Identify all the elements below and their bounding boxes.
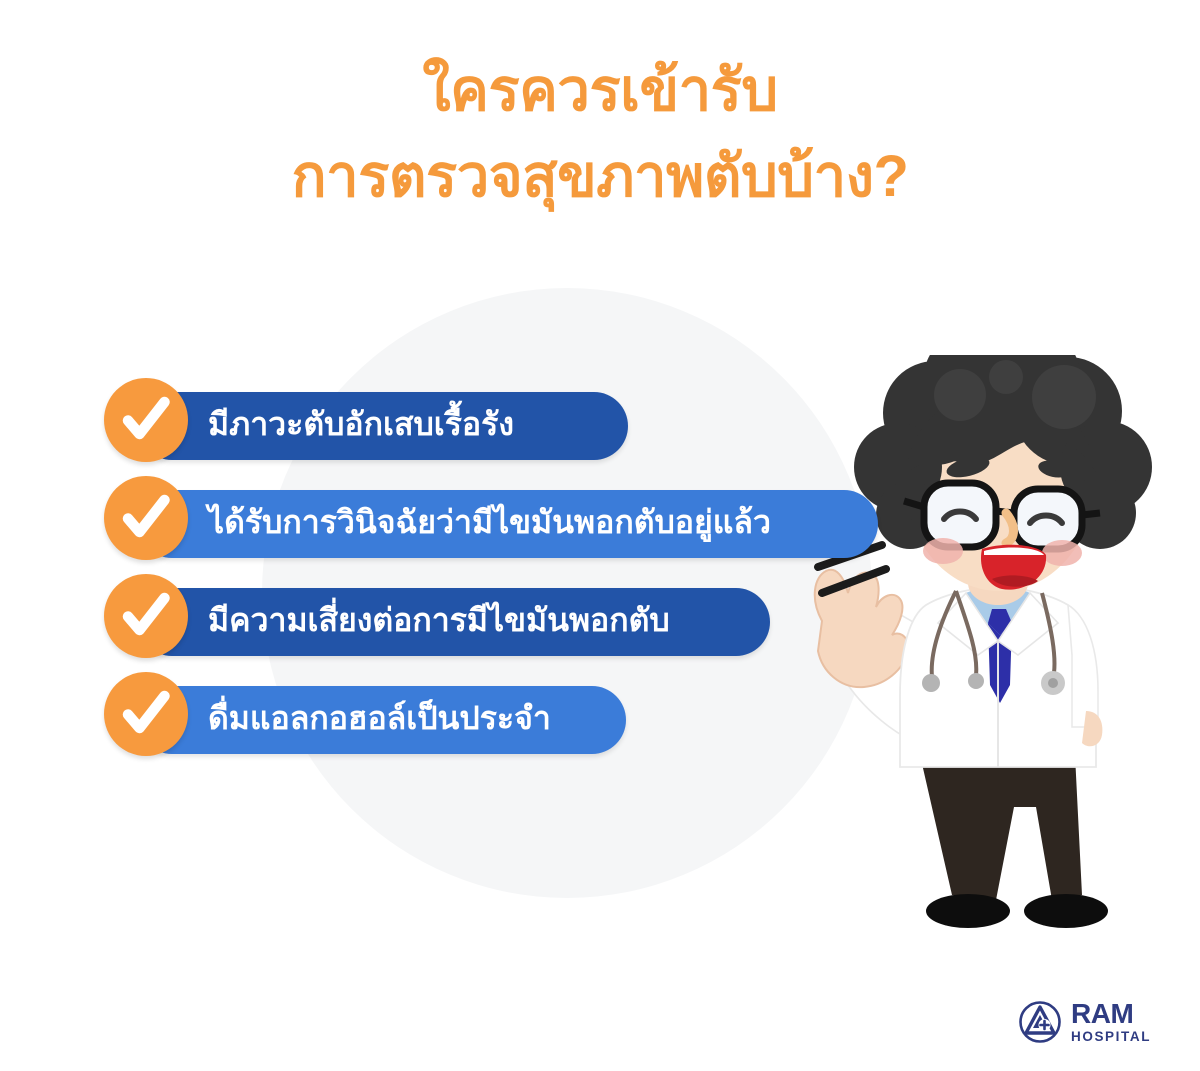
triangle-cross-circle-icon xyxy=(1018,1000,1062,1044)
ram-hospital-logo: RAM HOSPITAL xyxy=(1018,1000,1151,1044)
checklist-pill-3: มีความเสี่ยงต่อการมีไขมันพอกตับ xyxy=(138,588,770,656)
page-title-line-2: การตรวจสุขภาพตับบ้าง? xyxy=(0,134,1200,220)
page-title-line-1: ใครควรเข้ารับ xyxy=(0,48,1200,134)
checklist-pill-4: ดื่มแอลกอฮอล์เป็นประจำ xyxy=(138,686,626,754)
doctor-character-illustration xyxy=(800,355,1200,975)
checklist-label-1: มีภาวะตับอักเสบเรื้อรัง xyxy=(208,408,514,444)
check-icon xyxy=(104,378,188,462)
infographic-canvas: ใครควรเข้ารับ การตรวจสุขภาพตับบ้าง? มีภา… xyxy=(0,0,1200,1071)
check-icon xyxy=(104,574,188,658)
check-icon xyxy=(104,476,188,560)
checklist-pill-2: ได้รับการวินิจฉัยว่ามีไขมันพอกตับอยู่แล้… xyxy=(138,490,878,558)
logo-name: RAM xyxy=(1071,1000,1151,1028)
checklist-pill-1: มีภาวะตับอักเสบเรื้อรัง xyxy=(138,392,628,460)
checklist-label-3: มีความเสี่ยงต่อการมีไขมันพอกตับ xyxy=(208,604,670,640)
checklist-label-4: ดื่มแอลกอฮอล์เป็นประจำ xyxy=(208,702,551,738)
page-title: ใครควรเข้ารับ การตรวจสุขภาพตับบ้าง? xyxy=(0,48,1200,220)
logo-wordmark: RAM HOSPITAL xyxy=(1071,1000,1151,1044)
check-icon xyxy=(104,672,188,756)
logo-subtitle: HOSPITAL xyxy=(1071,1030,1151,1044)
checklist-label-2: ได้รับการวินิจฉัยว่ามีไขมันพอกตับอยู่แล้… xyxy=(208,506,771,542)
